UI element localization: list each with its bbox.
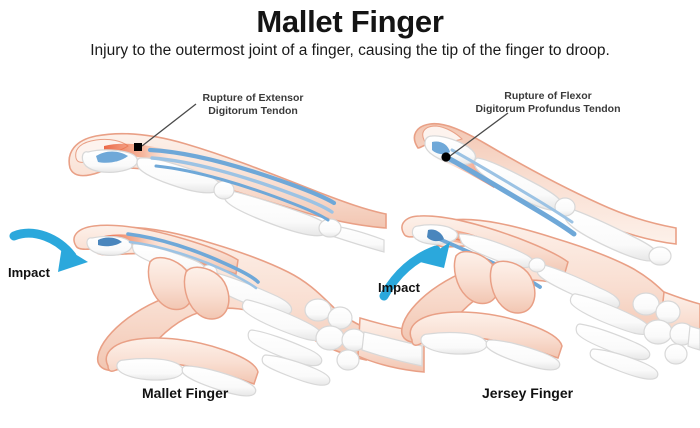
metacarpal-2-bl bbox=[248, 330, 322, 366]
carpal-1-br bbox=[633, 293, 659, 315]
impact-arrow-left-head bbox=[58, 246, 88, 272]
carpal-4-br bbox=[670, 323, 694, 345]
forearm-bone-bl bbox=[362, 332, 422, 366]
anatomy-artwork bbox=[0, 0, 700, 428]
caption-mallet-finger: Mallet Finger bbox=[142, 385, 228, 401]
distal-phalanx-top-left bbox=[82, 150, 137, 172]
flexor-tendon-strand-2 bbox=[452, 150, 572, 222]
inflammation-top-right bbox=[432, 146, 500, 188]
page-title: Mallet Finger bbox=[0, 4, 700, 40]
index-proximal-bone-bl bbox=[209, 272, 292, 315]
metacarpal-3-br bbox=[590, 349, 658, 379]
finger-skin-top-right bbox=[414, 124, 676, 244]
figure-top-left bbox=[69, 104, 386, 252]
carpal-3-bl bbox=[316, 326, 344, 350]
index-distal-bone-bl bbox=[87, 236, 132, 255]
illustration-canvas: Mallet Finger Injury to the outermost jo… bbox=[0, 0, 700, 428]
carpal-2-bl bbox=[328, 307, 352, 329]
inflammation-bottom-left bbox=[104, 234, 166, 254]
flexor-tendon-strand-1 bbox=[448, 158, 574, 234]
carpal-2-br bbox=[656, 301, 680, 323]
extensor-tendon-strand-1 bbox=[150, 150, 334, 203]
impact-label-left: Impact bbox=[8, 265, 50, 280]
inflammation-bottom-right bbox=[424, 228, 488, 251]
tendon-stump-bottom-left bbox=[98, 238, 122, 247]
rupture-marker-top-left bbox=[134, 143, 142, 151]
joint-top-left bbox=[214, 181, 234, 199]
middle-phalanx-top-left bbox=[137, 158, 220, 193]
carpal-1-bl bbox=[305, 299, 331, 321]
metacarpal-2-br bbox=[576, 324, 650, 360]
joint-top-right bbox=[555, 198, 575, 216]
figure-top-right bbox=[414, 113, 676, 265]
metacarpal-3-bl bbox=[262, 355, 330, 385]
thumb-bottom-right bbox=[410, 312, 562, 358]
impact-arrow-right-head bbox=[420, 242, 450, 268]
extensor-tendon-strand-2 bbox=[152, 158, 332, 212]
proximal-phalanx-top-left bbox=[224, 190, 329, 236]
distal-phalanx-top-right bbox=[425, 136, 476, 165]
inflammation-top-left bbox=[104, 144, 176, 164]
knuckle-top-right bbox=[649, 247, 671, 265]
extensor-tendon-strand-3 bbox=[156, 166, 328, 220]
index-distal-bone-br bbox=[412, 225, 457, 245]
tendon-bottom-left-1 bbox=[128, 234, 258, 282]
leader-line-top-right bbox=[450, 113, 508, 156]
carpal-5-bl bbox=[337, 350, 359, 370]
metacarpal-1-br bbox=[570, 294, 649, 335]
forearm-bone-br bbox=[688, 326, 700, 350]
impact-label-right: Impact bbox=[378, 280, 420, 295]
index-middle-bone-br bbox=[459, 234, 533, 268]
proximal-phalanx-top-right bbox=[565, 208, 658, 261]
carpal-3-br bbox=[644, 320, 672, 344]
tendon-bottom-right-1 bbox=[432, 236, 540, 287]
wrist-bottom-left bbox=[358, 318, 424, 372]
page-subtitle: Injury to the outermost joint of a finge… bbox=[0, 42, 700, 60]
tendon-stump-bottom-right bbox=[427, 229, 444, 241]
hand-skin-bottom-right bbox=[402, 219, 670, 342]
index-finger-bottom-right bbox=[402, 216, 568, 276]
carpal-5-br bbox=[665, 344, 687, 364]
index-joint-bl bbox=[201, 265, 217, 279]
tendon-bottom-left-2 bbox=[130, 242, 256, 288]
thumb-bottom-left bbox=[106, 338, 258, 384]
index-proximal-bone-br bbox=[537, 264, 620, 308]
figure-bottom-right bbox=[402, 216, 700, 379]
fingernail-top-right bbox=[423, 126, 462, 145]
index-finger-bottom-left bbox=[74, 225, 238, 274]
metacarpal-top-left bbox=[332, 226, 384, 252]
middle-finger-folded-br bbox=[454, 252, 498, 304]
fingernail-top-left bbox=[76, 139, 128, 162]
carpal-4-bl bbox=[342, 329, 366, 351]
middle-phalanx-top-right bbox=[475, 158, 562, 210]
tendon-stump-top-right bbox=[432, 141, 450, 154]
middle-finger-folded-bl bbox=[148, 258, 192, 310]
thumb-proximal-bone-br bbox=[486, 340, 560, 370]
figure-bottom-left bbox=[74, 225, 424, 396]
ring-finger-folded-bl bbox=[184, 267, 228, 319]
caption-jersey-finger: Jersey Finger bbox=[482, 385, 573, 401]
hand-skin-bottom-left bbox=[93, 227, 366, 370]
ring-finger-folded-br bbox=[490, 261, 534, 313]
thumb-distal-bone-br bbox=[421, 333, 487, 355]
index-middle-bone-bl bbox=[133, 244, 206, 275]
metacarpal-1-bl bbox=[242, 300, 321, 341]
impact-arrow-left-shaft bbox=[14, 233, 72, 256]
tendon-stump-top-left bbox=[96, 152, 128, 163]
callout-flexor-rupture: Rupture of Flexor Digitorum Profundus Te… bbox=[448, 90, 648, 117]
callout-extensor-rupture: Rupture of Extensor Digitorum Tendon bbox=[178, 92, 328, 119]
rupture-marker-top-right bbox=[441, 152, 450, 161]
finger-skin-top-left bbox=[69, 134, 386, 228]
knuckle-top-left bbox=[319, 219, 341, 237]
thumb-distal-bone-bl bbox=[117, 359, 183, 381]
wrist-bottom-right bbox=[660, 292, 700, 344]
index-joint-br bbox=[529, 258, 545, 272]
